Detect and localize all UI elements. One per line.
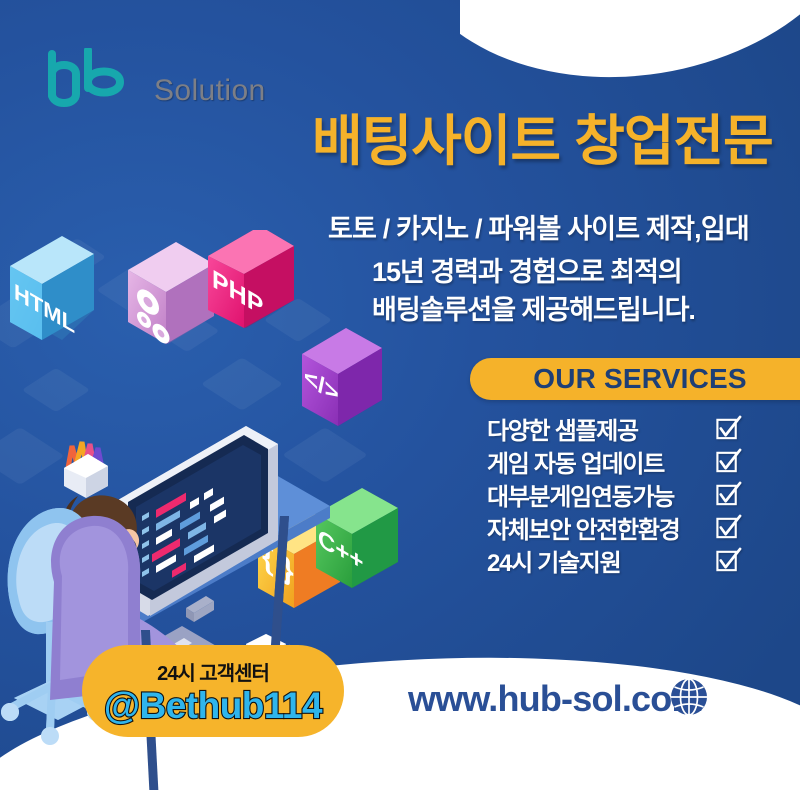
contact-pill[interactable]: 24시 고객센터 @Bethub114 xyxy=(82,645,344,737)
hub-logo-icon xyxy=(42,48,160,110)
services-banner-label: OUR SERVICES xyxy=(533,363,747,395)
service-label: 다양한 샘플제공 xyxy=(487,411,638,446)
service-label: 자체보안 안전한환경 xyxy=(487,510,679,545)
page-subtitle: 토토 / 카지노 / 파워볼 사이트 제작,임대 xyxy=(328,207,788,246)
badge-code-tag: </> xyxy=(302,328,382,426)
checkbox-checked-icon xyxy=(715,547,742,574)
promo-line-1: 15년 경력과 경험으로 최적의 xyxy=(372,253,792,291)
brand-logo[interactable]: Solution xyxy=(42,48,266,110)
badge-html: HTML xyxy=(10,236,94,340)
service-label: 대부분게임연동가능 xyxy=(487,477,674,512)
service-item: 자체보안 안전한환경 xyxy=(487,511,742,544)
promotional-banner: HTML PHP </> xyxy=(0,0,800,800)
messenger-id[interactable]: @Bethub114 xyxy=(104,687,322,724)
service-item: 게임 자동 업데이트 xyxy=(487,445,742,478)
service-item: 다양한 샘플제공 xyxy=(487,412,742,445)
service-item: 대부분게임연동가능 xyxy=(487,478,742,511)
badge-gears xyxy=(128,242,214,347)
page-title: 배팅사이트 창업전문 xyxy=(312,113,782,171)
badge-php: PHP xyxy=(208,230,294,328)
pencil-cup xyxy=(64,442,108,498)
service-item: 24시 기술지원 xyxy=(487,544,742,577)
services-banner: OUR SERVICES xyxy=(470,358,800,400)
logo-suffix: Solution xyxy=(154,74,266,108)
checkbox-checked-icon xyxy=(715,514,742,541)
checkbox-checked-icon xyxy=(715,448,742,475)
globe-icon xyxy=(668,676,710,718)
checkbox-checked-icon xyxy=(715,481,742,508)
promo-text: 15년 경력과 경험으로 최적의 배팅솔루션을 제공해드립니다. xyxy=(372,253,792,330)
service-label: 게임 자동 업데이트 xyxy=(487,444,664,479)
corner-ribbon-white xyxy=(460,0,800,110)
services-list: 다양한 샘플제공 게임 자동 업데이트 대부분게임연동가능 xyxy=(487,412,742,577)
checkbox-checked-icon xyxy=(715,415,742,442)
promo-line-2: 배팅솔루션을 제공해드립니다. xyxy=(372,291,792,329)
contact-hours-label: 24시 고객센터 xyxy=(157,657,269,686)
website-url[interactable]: www.hub-sol.com xyxy=(408,678,703,720)
service-label: 24시 기술지원 xyxy=(487,543,620,578)
